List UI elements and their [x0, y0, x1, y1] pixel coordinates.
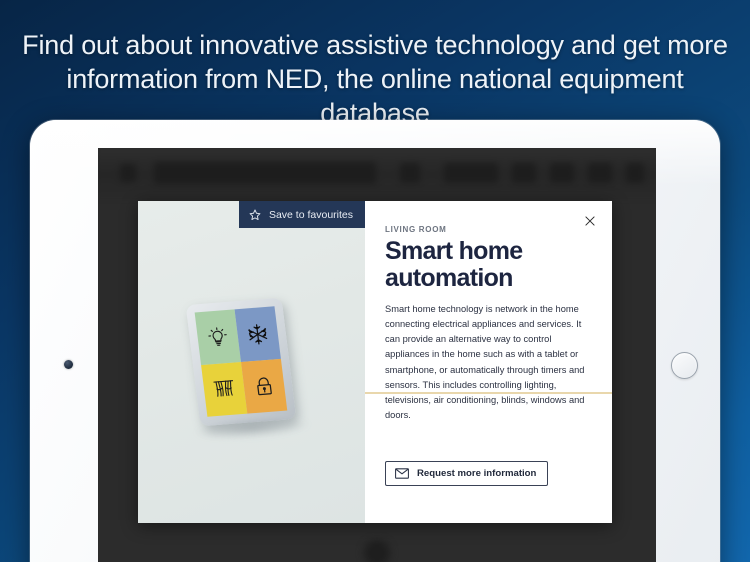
tile-climate — [235, 306, 281, 361]
save-to-favourites-label: Save to favourites — [269, 209, 353, 221]
app-bottom-background — [98, 520, 656, 562]
app-topbar-background — [98, 148, 656, 201]
star-outline-icon — [248, 208, 262, 222]
request-more-information-button[interactable]: Request more information — [385, 461, 548, 486]
home-button[interactable] — [671, 352, 698, 379]
close-modal-button[interactable] — [581, 212, 599, 230]
app-bottom-indicator — [364, 540, 390, 562]
snowflake-icon — [244, 317, 272, 350]
page-headline: Find out about innovative assistive tech… — [0, 28, 750, 130]
modal-body-text: Smart home technology is network in the … — [385, 302, 588, 423]
section-divider — [365, 392, 612, 394]
curtains-icon — [210, 373, 238, 406]
request-more-information-label: Request more information — [417, 468, 536, 479]
product-image — [186, 298, 297, 427]
detail-text-panel: LIVING ROOM Smart home automation Smart … — [365, 201, 612, 523]
envelope-icon — [395, 468, 409, 479]
detail-modal: Save to favourites LIVING ROOM Smart hom… — [138, 201, 612, 523]
category-eyebrow: LIVING ROOM — [385, 225, 588, 234]
padlock-icon — [250, 369, 278, 402]
tile-lighting — [195, 309, 241, 364]
modal-title: Smart home automation — [385, 238, 588, 291]
camera-dot-icon — [64, 360, 73, 369]
tile-security — [241, 358, 287, 413]
tile-blinds — [201, 362, 247, 417]
tablet-device-frame: Save to favourites LIVING ROOM Smart hom… — [30, 120, 720, 562]
close-icon — [583, 214, 597, 228]
product-image-panel: Save to favourites — [138, 201, 365, 523]
device-screen: Save to favourites LIVING ROOM Smart hom… — [98, 148, 656, 562]
save-to-favourites-button[interactable]: Save to favourites — [239, 201, 365, 228]
lightbulb-icon — [204, 320, 232, 353]
